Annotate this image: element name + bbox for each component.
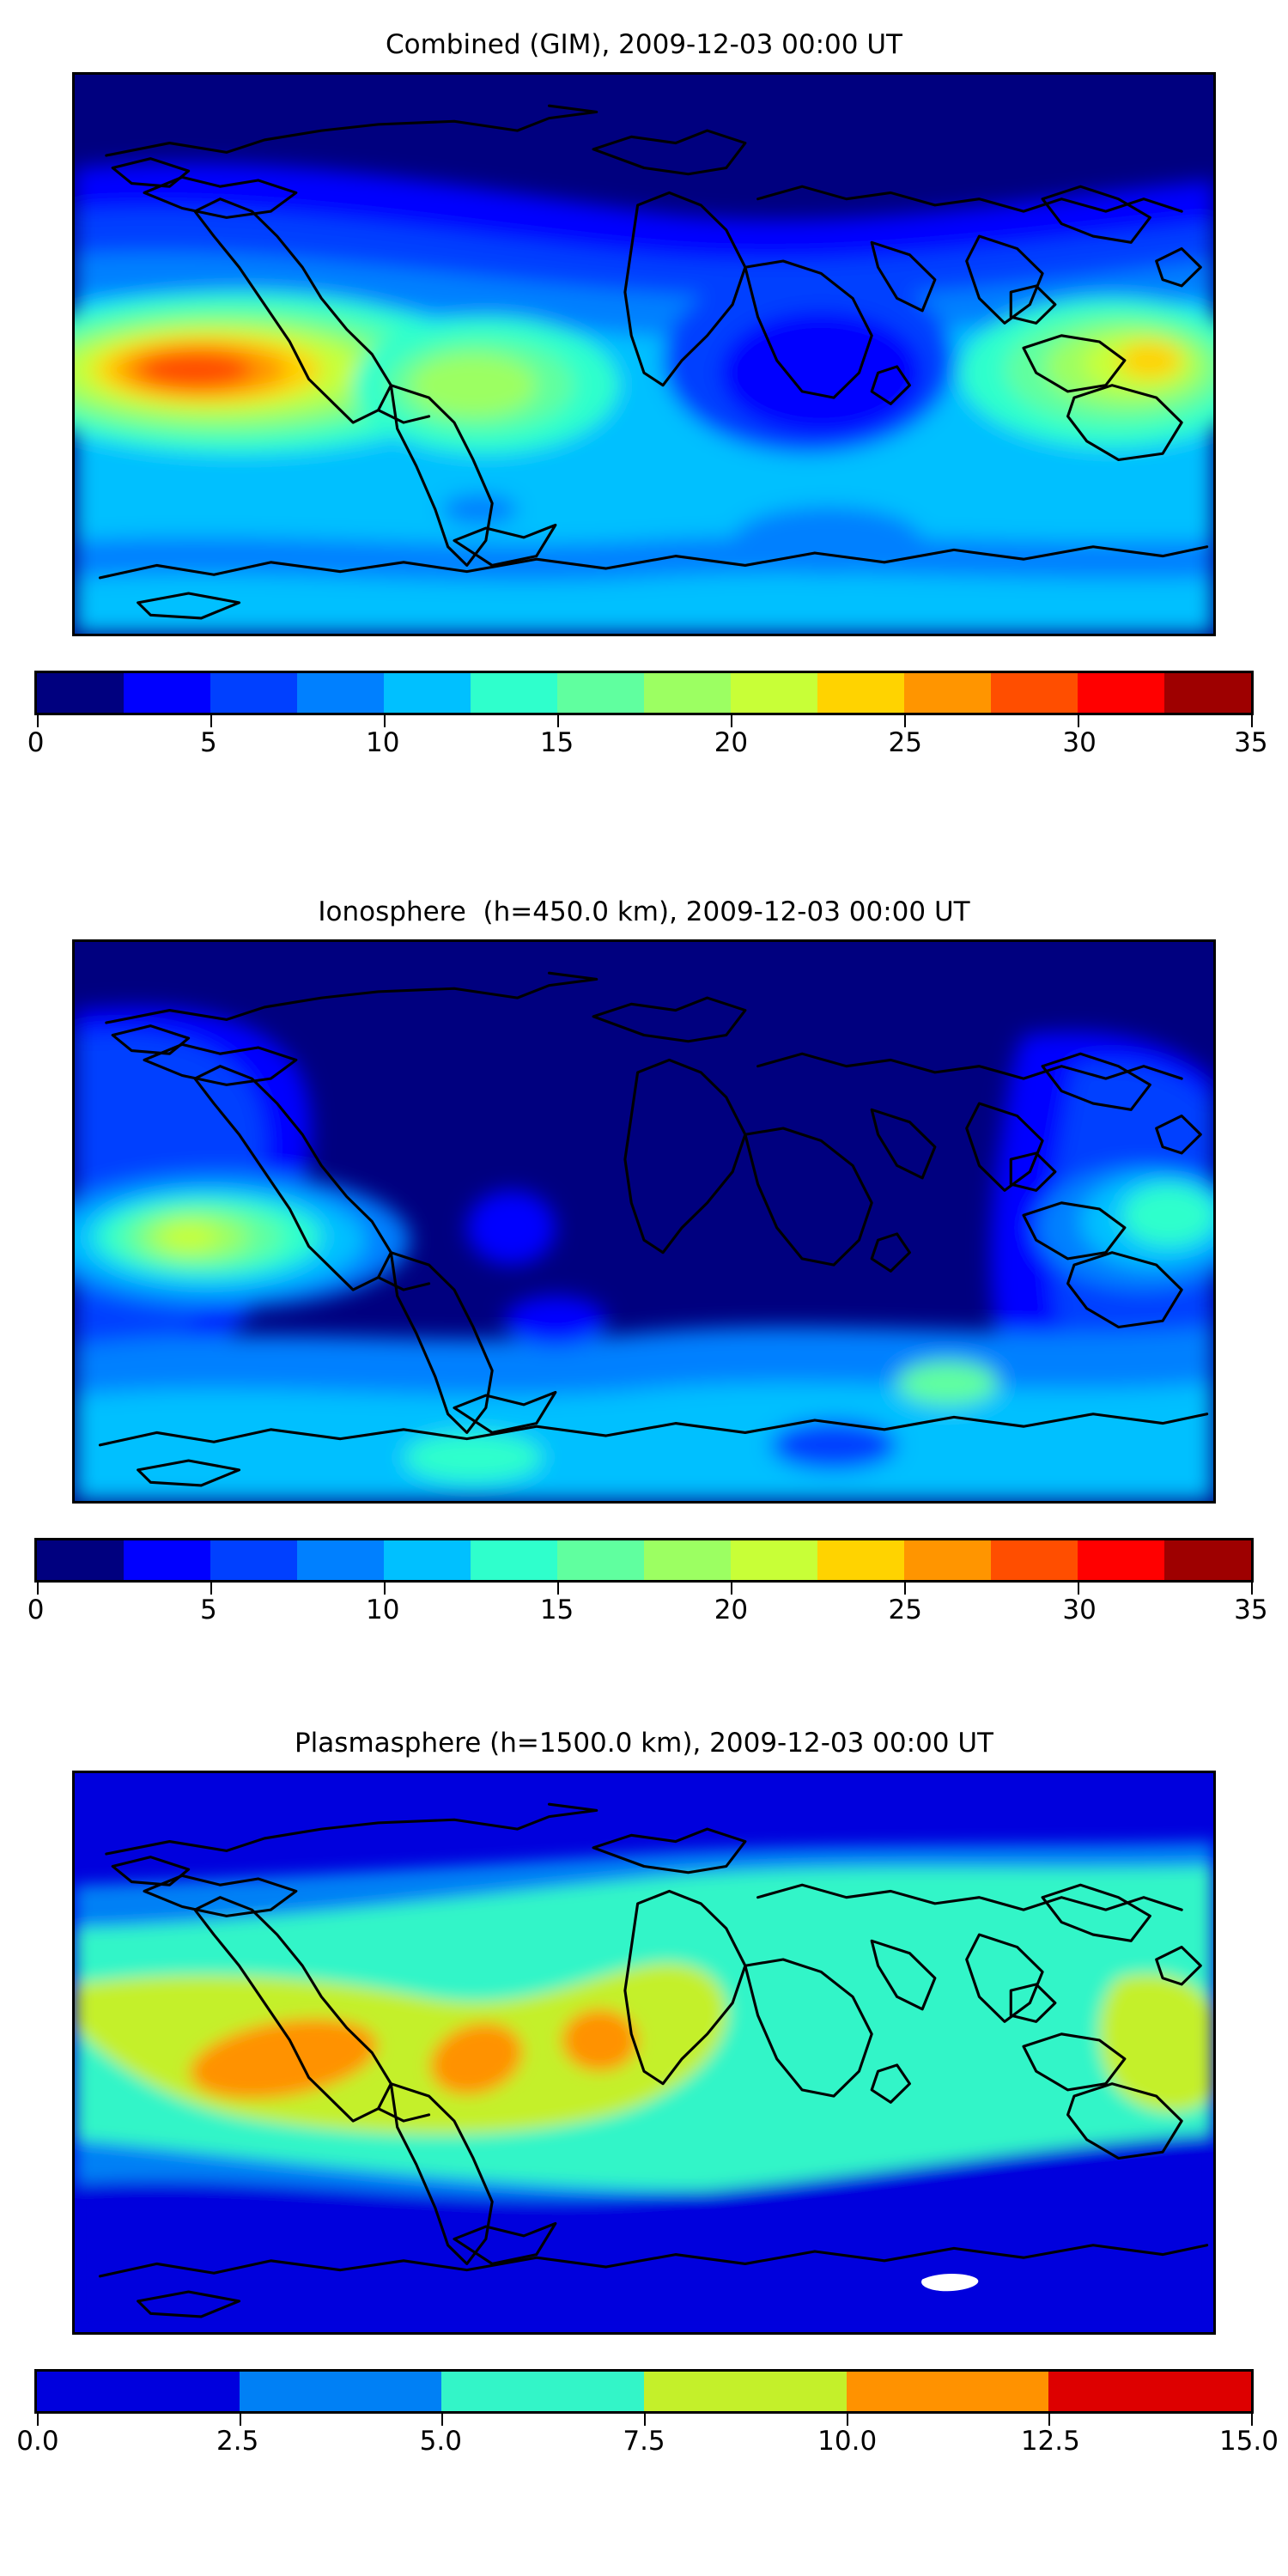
colorbar-plasmasphere: 0.02.55.07.510.012.515.0 — [34, 2369, 1254, 2464]
colorbar-segment — [991, 1540, 1078, 1580]
colorbar-segment — [847, 2372, 1049, 2411]
colorbar-segment — [471, 1540, 557, 1580]
colorbar-tick — [1251, 1583, 1253, 1595]
colorbar-tick-label: 0 — [27, 727, 45, 758]
map-canvas-ionosphere — [75, 942, 1213, 1501]
colorbar-tick — [557, 715, 559, 727]
colorbar-tick-label: 10.0 — [817, 2426, 877, 2457]
colorbar-bar-combined — [34, 671, 1254, 715]
colorbar-tick-label: 10 — [366, 727, 399, 758]
map-combined-gim — [72, 72, 1216, 636]
colorbar-tick — [441, 2414, 443, 2426]
colorbar-labels-ionosphere: 05101520253035 — [34, 1595, 1254, 1632]
colorbar-segment — [1048, 2372, 1251, 2411]
colorbar-tick-label: 5 — [200, 727, 217, 758]
panel-ionosphere: Ionosphere (h=450.0 km), 2009-12-03 00:0… — [0, 896, 1288, 1632]
colorbar-segment — [991, 673, 1078, 713]
colorbar-segment — [1164, 673, 1251, 713]
colorbar-bar-plasmasphere — [34, 2369, 1254, 2414]
panel-title-plasmasphere: Plasmasphere (h=1500.0 km), 2009-12-03 0… — [0, 1728, 1288, 1759]
colorbar-tick — [1251, 2414, 1253, 2426]
colorbar-segment — [471, 673, 557, 713]
colorbar-segment — [240, 2372, 442, 2411]
colorbar-ticks-plasmasphere — [34, 2414, 1254, 2426]
colorbar-tick — [731, 715, 732, 727]
colorbar-tick — [37, 1583, 39, 1595]
colorbar-tick — [1251, 715, 1253, 727]
colorbar-tick-label: 35 — [1234, 727, 1267, 758]
colorbar-tick-label: 20 — [714, 1595, 748, 1625]
colorbar-segment — [904, 673, 991, 713]
colorbar-tick-label: 5.0 — [420, 2426, 462, 2457]
colorbar-labels-combined: 05101520253035 — [34, 727, 1254, 765]
colorbar-segment — [210, 673, 297, 713]
map-plasmasphere — [72, 1771, 1216, 2335]
colorbar-tick-label: 35 — [1234, 1595, 1267, 1625]
colorbar-segment — [1078, 1540, 1164, 1580]
colorbar-tick-label: 0 — [27, 1595, 45, 1625]
figure-root: Combined (GIM), 2009-12-03 00:00 UT — [0, 0, 1288, 2576]
colorbar-tick-label: 7.5 — [623, 2426, 665, 2457]
colorbar-segment — [297, 673, 384, 713]
colorbar-segment — [904, 1540, 991, 1580]
map-canvas-plasmasphere — [75, 1773, 1213, 2332]
colorbar-segment — [817, 673, 904, 713]
colorbar-segment — [817, 1540, 904, 1580]
colorbar-segment — [124, 673, 210, 713]
colorbar-segment — [1078, 673, 1164, 713]
colorbar-tick — [1048, 2414, 1050, 2426]
colorbar-tick — [240, 2414, 241, 2426]
colorbar-segment — [644, 2372, 847, 2411]
map-ionosphere — [72, 939, 1216, 1504]
colorbar-tick-label: 20 — [714, 727, 748, 758]
colorbar-tick-label: 10 — [366, 1595, 399, 1625]
colorbar-ticks-ionosphere — [34, 1583, 1254, 1595]
colorbar-segment — [210, 1540, 297, 1580]
colorbar-segment — [37, 673, 124, 713]
colorbar-tick — [37, 2414, 39, 2426]
colorbar-tick-label: 0.0 — [16, 2426, 58, 2457]
colorbar-segment — [557, 1540, 644, 1580]
colorbar-tick — [904, 1583, 906, 1595]
colorbar-segment — [441, 2372, 644, 2411]
colorbar-tick — [1078, 715, 1079, 727]
colorbar-tick-label: 15 — [540, 1595, 574, 1625]
colorbar-bar-ionosphere — [34, 1538, 1254, 1583]
panel-combined-gim: Combined (GIM), 2009-12-03 00:00 UT — [0, 29, 1288, 765]
colorbar-segment — [731, 1540, 817, 1580]
colorbar-tick-label: 5 — [200, 1595, 217, 1625]
colorbar-tick-label: 2.5 — [216, 2426, 258, 2457]
panel-plasmasphere: Plasmasphere (h=1500.0 km), 2009-12-03 0… — [0, 1728, 1288, 2464]
colorbar-segment — [37, 2372, 240, 2411]
colorbar-segment — [644, 673, 731, 713]
colorbar-segment — [384, 673, 471, 713]
colorbar-tick — [847, 2414, 848, 2426]
colorbar-tick — [384, 715, 386, 727]
colorbar-tick — [210, 715, 212, 727]
colorbar-tick — [210, 1583, 212, 1595]
colorbar-tick-label: 15.0 — [1219, 2426, 1279, 2457]
colorbar-combined: 05101520253035 — [34, 671, 1254, 765]
colorbar-segment — [297, 1540, 384, 1580]
colorbar-tick — [731, 1583, 732, 1595]
colorbar-tick — [557, 1583, 559, 1595]
map-canvas-combined — [75, 75, 1213, 634]
colorbar-ticks-combined — [34, 715, 1254, 727]
colorbar-ionosphere: 05101520253035 — [34, 1538, 1254, 1632]
colorbar-segment — [384, 1540, 471, 1580]
colorbar-segment — [124, 1540, 210, 1580]
colorbar-tick — [904, 715, 906, 727]
colorbar-tick — [644, 2414, 646, 2426]
colorbar-segment — [1164, 1540, 1251, 1580]
colorbar-segment — [731, 673, 817, 713]
colorbar-tick-label: 30 — [1062, 727, 1096, 758]
colorbar-tick-label: 25 — [889, 1595, 922, 1625]
colorbar-segment — [557, 673, 644, 713]
colorbar-tick-label: 30 — [1062, 1595, 1096, 1625]
colorbar-segment — [37, 1540, 124, 1580]
colorbar-tick — [37, 715, 39, 727]
panel-title-ionosphere: Ionosphere (h=450.0 km), 2009-12-03 00:0… — [0, 896, 1288, 927]
colorbar-tick — [384, 1583, 386, 1595]
colorbar-tick — [1078, 1583, 1079, 1595]
colorbar-tick-label: 15 — [540, 727, 574, 758]
colorbar-segment — [644, 1540, 731, 1580]
colorbar-labels-plasmasphere: 0.02.55.07.510.012.515.0 — [34, 2426, 1254, 2464]
panel-title-combined: Combined (GIM), 2009-12-03 00:00 UT — [0, 29, 1288, 60]
colorbar-tick-label: 25 — [889, 727, 922, 758]
colorbar-tick-label: 12.5 — [1021, 2426, 1080, 2457]
